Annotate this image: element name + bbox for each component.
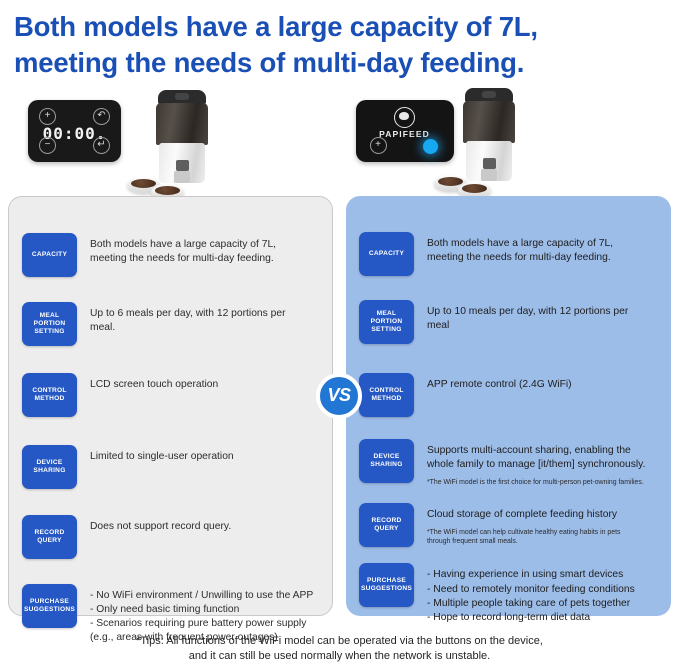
feature-rows-right: CAPACITY Both models have a large capaci… (346, 196, 671, 626)
feeder-body (466, 141, 512, 181)
feature-row-control-method: CONTROLMETHOD LCD screen touch operation (22, 373, 322, 417)
feature-text-purchase-suggestions: - Having experience in using smart devic… (414, 563, 661, 625)
feeder-screen (176, 160, 189, 171)
badge-record-query: RECORDQUERY (359, 503, 414, 547)
feature-text-capacity: Both models have a large capacity of 7L,… (414, 232, 661, 266)
list-item: - Scenarios requiring pure battery power… (90, 617, 322, 631)
feature-note: *The WiFi model can help cultivate healt… (427, 528, 661, 547)
feeder-hopper (156, 103, 208, 145)
plus-icon: + (39, 108, 56, 125)
badge-record-query: RECORDQUERY (22, 515, 77, 559)
feature-row-purchase-suggestions: PURCHASESUGGESTIONS - No WiFi environmen… (22, 584, 322, 646)
app-control-panel: PAPIFEED + (356, 100, 454, 162)
feature-row-capacity: CAPACITY Both models have a large capaci… (22, 233, 322, 277)
badge-control-method: CONTROLMETHOD (22, 373, 77, 417)
feature-row-purchase-suggestions: PURCHASESUGGESTIONS - Having experience … (359, 563, 661, 625)
badge-meal-portion-setting: MEAL PORTIONSETTING (22, 302, 77, 346)
feature-text-meal-portion-setting: Up to 6 meals per day, with 12 portions … (77, 302, 322, 336)
footer-tips-line-2: and it can still be used normally when t… (0, 649, 679, 664)
feature-row-device-sharing: DEVICESHARING Limited to single-user ope… (22, 445, 322, 489)
feature-text-main: Cloud storage of complete feeding histor… (427, 509, 617, 520)
brand-name: PAPIFEED (356, 129, 454, 139)
feature-text-main: Supports multi-account sharing, enabling… (427, 445, 645, 471)
list-item: (e.g., areas with frequent power outages… (90, 631, 322, 645)
badge-device-sharing: DEVICESHARING (359, 439, 414, 483)
comparison-panel-wifi: CAPACITY Both models have a large capaci… (346, 196, 671, 616)
hero-left-device-group: + ↶ 00:00. − ↵ (0, 86, 340, 196)
page-title-line-2: meeting the needs of multi-day feeding. (14, 45, 665, 81)
purchase-suggestion-list: - No WiFi environment / Unwilling to use… (90, 589, 322, 646)
feature-text-control-method: APP remote control (2.4G WiFi) (414, 373, 661, 393)
page-title-line-1: Both models have a large capacity of 7L, (14, 9, 665, 45)
comparison-section: CAPACITY Both models have a large capaci… (0, 196, 679, 624)
feature-text-control-method: LCD screen touch operation (77, 373, 322, 393)
feeder-chute (174, 171, 190, 183)
feature-text-purchase-suggestions: - No WiFi environment / Unwilling to use… (77, 584, 322, 646)
feature-row-control-method: CONTROLMETHOD APP remote control (2.4G W… (359, 373, 661, 417)
feeder-screen (483, 158, 496, 169)
list-item: - Having experience in using smart devic… (427, 568, 661, 582)
list-item: - Only need basic timing function (90, 603, 322, 617)
pet-feeder-device-left (145, 90, 219, 194)
feature-row-meal-portion-setting: MEAL PORTIONSETTING Up to 10 meals per d… (359, 300, 661, 344)
feature-row-record-query: RECORDQUERY Cloud storage of complete fe… (359, 503, 661, 547)
list-item: - Need to remotely monitor feeding condi… (427, 583, 661, 597)
page-title: Both models have a large capacity of 7L,… (0, 0, 679, 82)
badge-purchase-suggestions: PURCHASESUGGESTIONS (359, 563, 414, 607)
feature-row-meal-portion-setting: MEAL PORTIONSETTING Up to 6 meals per da… (22, 302, 322, 346)
badge-purchase-suggestions: PURCHASESUGGESTIONS (22, 584, 77, 628)
feature-note: *The WiFi model is the first choice for … (427, 478, 661, 488)
feature-row-device-sharing: DEVICESHARING Supports multi-account sha… (359, 439, 661, 488)
comparison-panel-standard: CAPACITY Both models have a large capaci… (8, 196, 333, 616)
paw-icon (394, 107, 415, 128)
feature-text-meal-portion-setting: Up to 10 meals per day, with 12 portions… (414, 300, 661, 334)
enter-icon: ↵ (93, 137, 110, 154)
feeder-body (159, 143, 205, 183)
list-item: - No WiFi environment / Unwilling to use… (90, 589, 322, 603)
feature-text-capacity: Both models have a large capacity of 7L,… (77, 233, 322, 267)
plus-icon: + (370, 137, 387, 154)
vs-badge: VS (316, 373, 362, 419)
hero-right-device-group: PAPIFEED + (340, 86, 679, 196)
feature-text-record-query: Does not support record query. (77, 515, 322, 535)
feature-text-record-query: Cloud storage of complete feeding histor… (414, 503, 661, 547)
back-icon: ↶ (93, 108, 110, 125)
feature-row-capacity: CAPACITY Both models have a large capaci… (359, 232, 661, 276)
badge-capacity: CAPACITY (359, 232, 414, 276)
lcd-control-panel: + ↶ 00:00. − ↵ (28, 100, 121, 162)
minus-icon: − (39, 137, 56, 154)
feature-rows-left: CAPACITY Both models have a large capaci… (9, 197, 332, 646)
feature-text-device-sharing: Supports multi-account sharing, enabling… (414, 439, 661, 488)
list-item: - Multiple people taking care of pets to… (427, 597, 661, 611)
purchase-suggestion-list: - Having experience in using smart devic… (427, 568, 661, 625)
feature-text-device-sharing: Limited to single-user operation (77, 445, 322, 465)
list-item: - Hope to record long-term diet data (427, 611, 661, 625)
wifi-led-indicator (423, 139, 438, 154)
badge-capacity: CAPACITY (22, 233, 77, 277)
badge-device-sharing: DEVICESHARING (22, 445, 77, 489)
feature-row-record-query: RECORDQUERY Does not support record quer… (22, 515, 322, 559)
feeder-hopper (463, 101, 515, 143)
feeder-chute (481, 169, 497, 181)
pet-feeder-device-right (452, 88, 526, 192)
badge-control-method: CONTROLMETHOD (359, 373, 414, 417)
hero-product-images: + ↶ 00:00. − ↵ PAPIFEED + (0, 86, 679, 196)
badge-meal-portion-setting: MEAL PORTIONSETTING (359, 300, 414, 344)
